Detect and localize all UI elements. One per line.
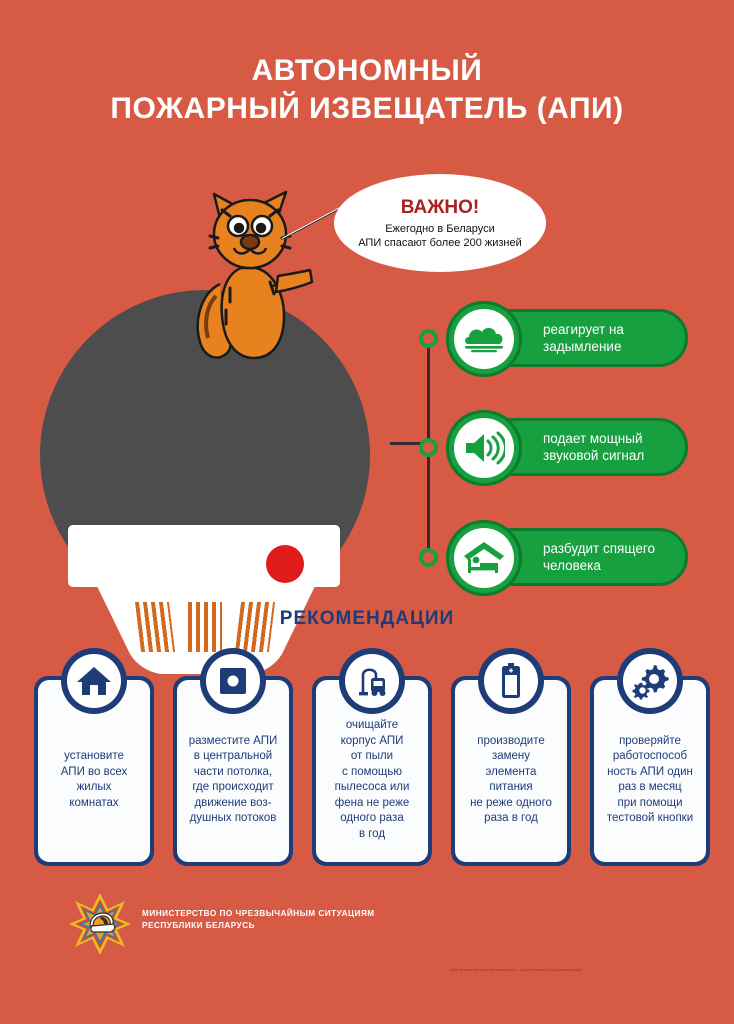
feature-label-smoke: реагирует на задымление <box>543 321 685 355</box>
recommendation-cards: установите АПИ во всех жилых комнатах ра… <box>34 648 706 870</box>
title-line-1: АВТОНОМНЫЙ <box>0 52 734 90</box>
recommendation-card-battery[interactable]: производите замену элемента питания не р… <box>451 676 571 866</box>
feature-pill-sound[interactable]: подает мощный звуковой сигнал <box>458 418 688 476</box>
feature-pill-smoke[interactable]: реагирует на задымление <box>458 309 688 367</box>
mchs-star-emblem-icon <box>68 892 132 956</box>
poster-root: АВТОНОМНЫЙ ПОЖАРНЫЙ ИЗВЕЩАТЕЛЬ (АПИ) <box>0 0 734 1024</box>
cat-mascot-icon <box>186 176 316 366</box>
recommendation-text-battery: производите замену элемента питания не р… <box>470 734 552 827</box>
ministry-name-line-2: РЕСПУБЛИКИ БЕЛАРУСЬ <box>142 920 375 932</box>
connector-node-1 <box>419 329 438 348</box>
poster-title: АВТОНОМНЫЙ ПОЖАРНЫЙ ИЗВЕЩАТЕЛЬ (АПИ) <box>0 52 734 128</box>
fineprint-note: АПИ: автономный пожарный извещатель — ср… <box>306 968 726 973</box>
feature-label-sound: подает мощный звуковой сигнал <box>543 430 685 464</box>
gears-icon <box>631 662 669 700</box>
recommendations-heading: РЕКОМЕНДАЦИИ <box>0 608 734 630</box>
smoke-cloud-icon <box>462 324 506 354</box>
recommendation-text-placement: разместите АПИ в центральной части потол… <box>189 734 277 827</box>
recommendation-card-install[interactable]: установите АПИ во всех жилых комнатах <box>34 676 154 866</box>
recommendation-card-test[interactable]: проверяйте работоспособ ность АПИ один р… <box>590 676 710 866</box>
gears-icon-badge <box>617 648 683 714</box>
bed-sleeping-icon <box>462 539 506 577</box>
speaker-sound-icon <box>463 430 505 466</box>
ministry-name: МИНИСТЕРСТВО ПО ЧРЕЗВЫЧАЙНЫМ СИТУАЦИЯМ Р… <box>142 908 375 932</box>
important-speech-bubble: ВАЖНО! Ежегодно в Беларуси АПИ спасают б… <box>334 174 546 272</box>
battery-icon-badge <box>478 648 544 714</box>
bed-icon-badge <box>446 520 522 596</box>
smoke-cloud-icon-badge <box>446 301 522 377</box>
ceiling-mount-icon-badge <box>200 648 266 714</box>
bubble-heading: ВАЖНО! <box>401 197 480 219</box>
speaker-icon-badge <box>446 410 522 486</box>
feature-label-wake: разбудит спящего человека <box>543 540 685 574</box>
recommendation-text-cleaning: очищайте корпус АПИ от пыли с помощью пы… <box>335 718 410 842</box>
bubble-line-2: АПИ спасают более 200 жизней <box>358 236 522 250</box>
recommendation-text-test: проверяйте работоспособ ность АПИ один р… <box>607 734 693 827</box>
ceiling-mount-icon <box>217 665 249 697</box>
house-icon <box>76 665 112 697</box>
recommendation-card-placement[interactable]: разместите АПИ в центральной части потол… <box>173 676 293 866</box>
recommendation-card-cleaning[interactable]: очищайте корпус АПИ от пыли с помощью пы… <box>312 676 432 866</box>
hero-illustration: ВАЖНО! Ежегодно в Беларуси АПИ спасают б… <box>0 160 734 590</box>
connector-node-2 <box>419 438 438 457</box>
house-icon-badge <box>61 648 127 714</box>
battery-icon <box>500 663 522 699</box>
feature-pill-wake[interactable]: разбудит спящего человека <box>458 528 688 586</box>
bubble-line-1: Ежегодно в Беларуси <box>385 222 495 236</box>
vacuum-cleaner-icon <box>354 663 390 699</box>
recommendation-text-install: установите АПИ во всех жилых комнатах <box>61 749 127 811</box>
detector-led-indicator <box>266 545 304 583</box>
vacuum-icon-badge <box>339 648 405 714</box>
ministry-name-line-1: МИНИСТЕРСТВО ПО ЧРЕЗВЫЧАЙНЫМ СИТУАЦИЯМ <box>142 908 375 920</box>
title-line-2: ПОЖАРНЫЙ ИЗВЕЩАТЕЛЬ (АПИ) <box>0 90 734 128</box>
connector-node-3 <box>419 548 438 567</box>
